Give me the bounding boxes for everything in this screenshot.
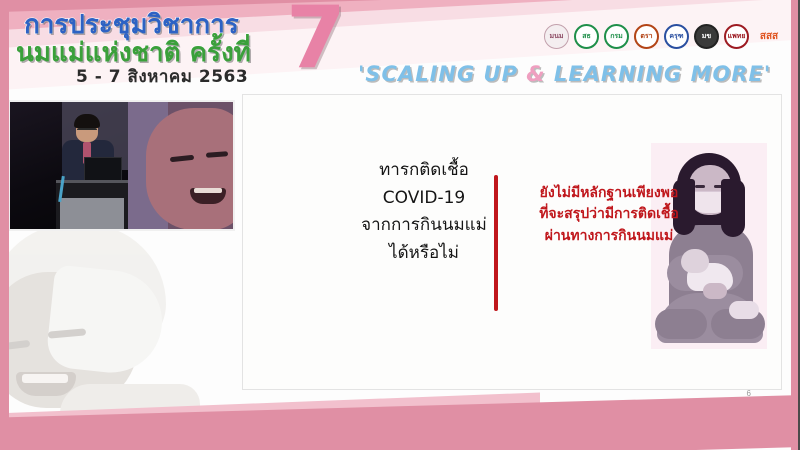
mother-hair-right xyxy=(721,179,745,237)
baby-closeup-teeth xyxy=(194,188,222,193)
speaker-hair xyxy=(74,114,100,128)
health-department-logo: กรม xyxy=(604,24,629,49)
slide-content-card: ทารกติดเชื้อ COVID-19 จากการกินนมแม่ ได้… xyxy=(242,94,782,390)
baby-teeth xyxy=(22,374,68,383)
question-line-1: ทารกติดเชื้อ xyxy=(329,157,519,185)
presentation-slide: การประชุมวิชาการ นมแม่แห่งชาติ ครั้งที่ … xyxy=(0,0,800,450)
infant-head xyxy=(681,249,709,273)
conference-recording-thumbnail[interactable] xyxy=(8,100,235,231)
question-line-2: COVID-19 xyxy=(329,185,519,213)
speaker-scene xyxy=(10,102,128,229)
baby-closeup-scene xyxy=(128,102,235,229)
university-black-seal-logo: มข xyxy=(694,24,719,49)
conference-tagline: 'SCALING UP & LEARNING MORE' xyxy=(358,62,771,86)
medical-council-red-logo: แพทย xyxy=(724,24,749,49)
tagline-text-after: LEARNING MORE' xyxy=(546,62,772,86)
question-text-block: ทารกติดเชื้อ COVID-19 จากการกินนมแม่ ได้… xyxy=(329,157,519,267)
answer-line-2: ที่จะสรุปว่ามีการติดเชื้อ xyxy=(511,204,707,225)
left-pink-edge xyxy=(0,0,9,450)
red-vertical-divider xyxy=(494,175,498,311)
thaihealth-sss-logo: สสส xyxy=(754,24,784,49)
royal-emblem-logo: ตรา xyxy=(634,24,659,49)
podium-base xyxy=(60,198,124,231)
royal-crest-blue-logo: ครุฑ xyxy=(664,24,689,49)
answer-line-1: ยังไม่มีหลักฐานเพียงพอ xyxy=(511,183,707,204)
conference-edition-number: 7 xyxy=(286,0,346,88)
mother-hand xyxy=(703,283,727,299)
right-pink-edge xyxy=(791,0,798,450)
mother-leg-left xyxy=(655,309,707,339)
answer-line-3: ผ่านทางการกินนมแม่ xyxy=(511,226,707,247)
answer-text-block: ยังไม่มีหลักฐานเพียงพอ ที่จะสรุปว่ามีการ… xyxy=(511,183,707,247)
partner-logo-strip: มนม สธ กรม ตรา ครุฑ มข แพทย สสส xyxy=(544,24,784,49)
tagline-ampersand: & xyxy=(526,62,545,86)
conference-dates: 5 - 7 สิงหาคม 2563 xyxy=(76,63,248,90)
question-line-3: จากการกินนมแม่ xyxy=(329,212,519,240)
question-line-4: ได้หรือไม่ xyxy=(329,240,519,268)
baby-closeup-face xyxy=(146,108,235,229)
ministry-public-health-logo: สธ xyxy=(574,24,599,49)
thai-breastfeeding-foundation-logo: มนม xyxy=(544,24,569,49)
mother-foot xyxy=(729,301,759,319)
tagline-text-before: 'SCALING UP xyxy=(358,62,526,86)
speaker-glasses-icon xyxy=(77,128,97,132)
